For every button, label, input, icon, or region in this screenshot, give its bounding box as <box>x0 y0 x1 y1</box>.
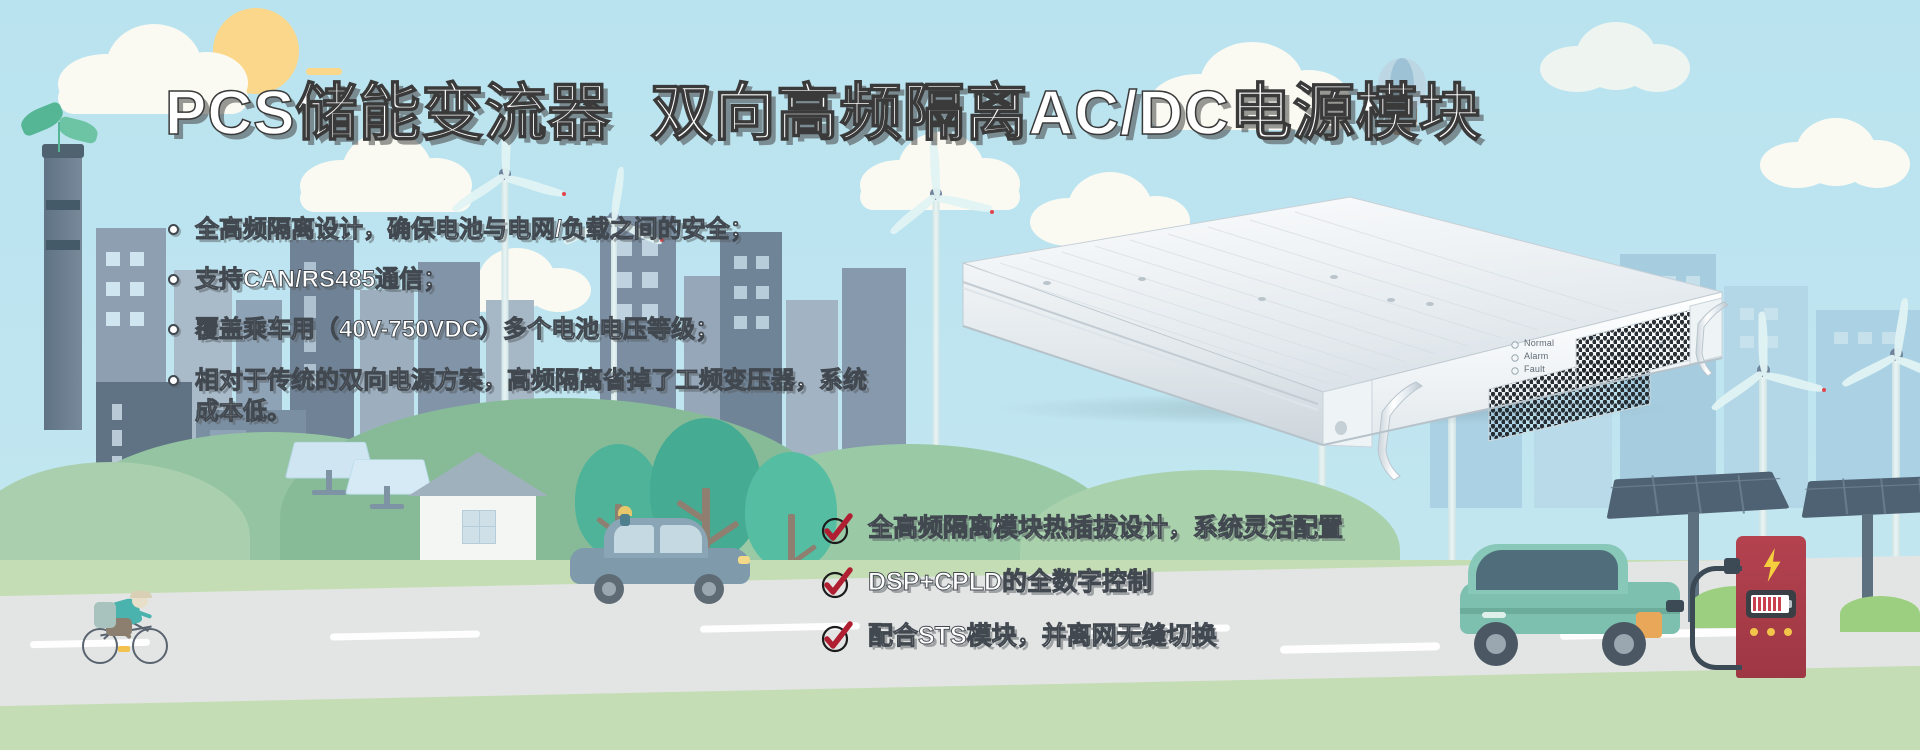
feature-item: 支持CAN/RS485通信； <box>168 264 928 295</box>
bullet-dot-icon <box>168 274 179 285</box>
feature-item: 覆盖乘车用（40V-750VDC）多个电池电压等级； <box>168 314 928 345</box>
feature-text: 全高频隔离设计，确保电池与电网/负载之间的安全； <box>195 214 754 245</box>
promo-banner: Normal Alarm Fault PCS储能变流器双向高频隔离AC/DC电源… <box>0 0 1920 750</box>
bullet-dot-icon <box>168 375 179 386</box>
device-led-label-fault: Fault <box>1524 364 1545 374</box>
feature-text: 支持CAN/RS485通信； <box>195 264 447 295</box>
feature-item: 全高频隔离设计，确保电池与电网/负载之间的安全； <box>168 214 928 245</box>
bullet-dot-icon <box>168 224 179 235</box>
bullet-dot-icon <box>168 324 179 335</box>
device-led-group <box>1512 342 1518 374</box>
feature-item: 相对于传统的双向电源方案，高频隔离省掉了工频变压器，系统成本低。 <box>168 365 868 427</box>
highlight-text: 配合STS模块，并离网无缝切换 <box>868 621 1217 652</box>
highlight-item: DSP+CPLD的全数字控制 <box>820 566 1580 600</box>
highlight-item: 配合STS模块，并离网无缝切换 <box>820 620 1580 654</box>
highlight-text: 全高频隔离模块热插拔设计，系统灵活配置 <box>868 513 1343 544</box>
feature-text: 覆盖乘车用（40V-750VDC）多个电池电压等级； <box>195 314 719 345</box>
device-led-label-alarm: Alarm <box>1524 351 1549 361</box>
check-circle-icon <box>820 566 854 600</box>
check-circle-icon <box>820 512 854 546</box>
highlight-list: 全高频隔离模块热插拔设计，系统灵活配置 DSP+CPLD的全数字控制 配合STS… <box>820 512 1580 674</box>
title-left: PCS储能变流器 <box>165 79 610 148</box>
page-title: PCS储能变流器双向高频隔离AC/DC电源模块 <box>165 62 1482 152</box>
highlight-text: DSP+CPLD的全数字控制 <box>868 567 1152 598</box>
device-led-label-normal: Normal <box>1524 338 1554 348</box>
highlight-item: 全高频隔离模块热插拔设计，系统灵活配置 <box>820 512 1580 546</box>
feature-text: 相对于传统的双向电源方案，高频隔离省掉了工频变压器，系统成本低。 <box>195 365 868 427</box>
title-right: 双向高频隔离AC/DC电源模块 <box>650 79 1481 148</box>
check-circle-icon <box>820 620 854 654</box>
feature-list: 全高频隔离设计，确保电池与电网/负载之间的安全； 支持CAN/RS485通信； … <box>168 214 928 446</box>
